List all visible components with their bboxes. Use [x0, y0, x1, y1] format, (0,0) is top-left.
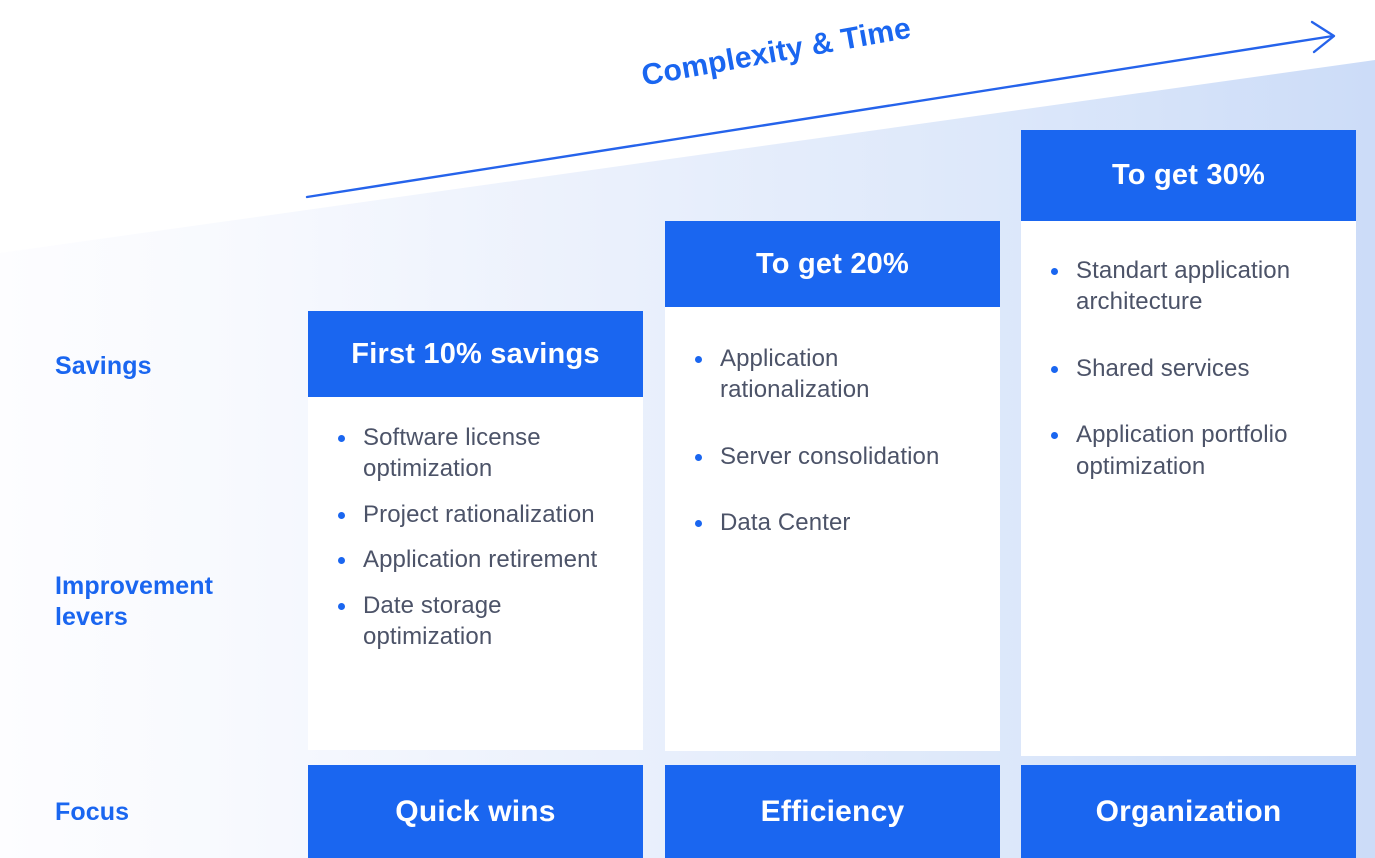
- list-item: Standart application architecture: [1047, 255, 1330, 318]
- infographic-canvas: Complexity & Time Savings Improvement le…: [0, 0, 1375, 858]
- list-item: Software license optimization: [334, 422, 617, 485]
- stage-card-2[interactable]: To get 20% Application rationalization S…: [665, 221, 1000, 751]
- list-item: Application portfolio optimization: [1047, 419, 1330, 482]
- row-label-improvement-levers: Improvement levers: [55, 571, 285, 632]
- stage-2-footer[interactable]: Efficiency: [665, 765, 1000, 858]
- stage-card-1[interactable]: First 10% savings Software license optim…: [308, 311, 643, 750]
- stage-card-3[interactable]: To get 30% Standart application architec…: [1021, 130, 1356, 756]
- stage-3-bullet-list: Standart application architecture Shared…: [1047, 255, 1330, 482]
- row-label-improvement-levers-text: Improvement levers: [55, 572, 213, 631]
- list-item: Data Center: [691, 507, 974, 538]
- list-item: Application retirement: [334, 544, 617, 575]
- stage-1-footer[interactable]: Quick wins: [308, 765, 643, 858]
- stage-2-header: To get 20%: [665, 221, 1000, 307]
- list-item: Shared services: [1047, 353, 1330, 384]
- list-item: Project rationalization: [334, 499, 617, 530]
- stage-1-body: Software license optimization Project ra…: [308, 397, 643, 750]
- list-item: Date storage optimization: [334, 590, 617, 653]
- stage-3-body: Standart application architecture Shared…: [1021, 221, 1356, 756]
- stage-1-header: First 10% savings: [308, 311, 643, 397]
- stage-1-bullet-list: Software license optimization Project ra…: [334, 422, 617, 653]
- row-label-savings: Savings: [55, 351, 152, 382]
- list-item: Application rationalization: [691, 343, 974, 406]
- stage-2-bullet-list: Application rationalization Server conso…: [691, 343, 974, 539]
- stage-3-header: To get 30%: [1021, 130, 1356, 221]
- row-label-focus: Focus: [55, 797, 129, 828]
- list-item: Server consolidation: [691, 441, 974, 472]
- stage-3-footer[interactable]: Organization: [1021, 765, 1356, 858]
- stage-2-body: Application rationalization Server conso…: [665, 307, 1000, 751]
